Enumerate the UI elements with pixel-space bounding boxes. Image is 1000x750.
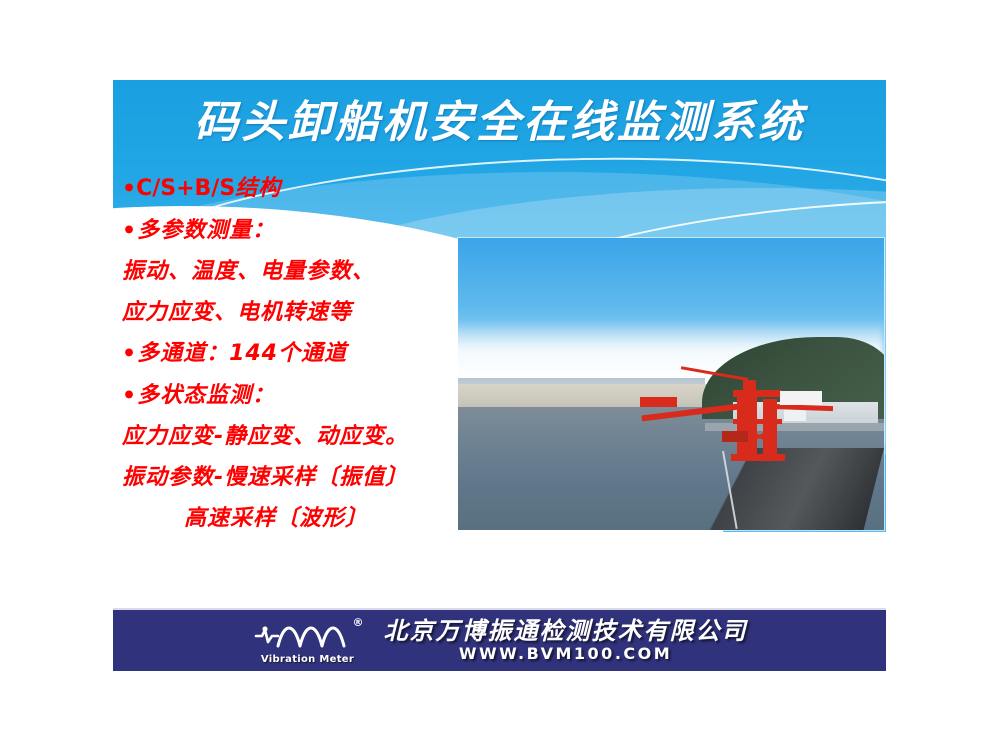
footer-content: ® Vibration Meter 北京万博振通检测技术有限公司 WWW.BVM… xyxy=(113,610,886,671)
crane-boom-tip xyxy=(640,397,676,407)
company-info: 北京万博振通检测技术有限公司 WWW.BVM100.COM xyxy=(384,618,748,663)
list-item-label: 振动、温度、电量参数、 xyxy=(122,259,375,284)
list-item-label: 多参数测量： xyxy=(137,218,275,243)
vibration-wave-icon xyxy=(254,620,364,650)
list-item-multi-state: •多状态监测： xyxy=(122,375,462,417)
list-item-strain-detail: 应力应变-静应变、动应变。 xyxy=(122,416,462,457)
crane-mid-beam xyxy=(733,419,782,424)
company-logo: ® Vibration Meter xyxy=(252,616,370,666)
list-item-label: 应力应变、电机转速等 xyxy=(122,300,352,325)
bullet-marker: • xyxy=(122,383,137,408)
list-item-zh-text: 结构 xyxy=(235,176,281,201)
footer-banner: ® Vibration Meter 北京万博振通检测技术有限公司 WWW.BVM… xyxy=(113,608,886,671)
list-item-label: 高速采样〔波形〕 xyxy=(184,506,368,531)
bullet-marker: • xyxy=(122,342,137,367)
crane-cab xyxy=(743,380,756,392)
list-item-multi-channel: •多通道：144个通道 xyxy=(122,333,462,375)
list-item-vibration-detail-2: 高速采样〔波形〕 xyxy=(122,498,462,539)
logo-caption: Vibration Meter xyxy=(252,654,364,665)
bullet-marker: • xyxy=(122,177,136,202)
list-item-cs-bs: •C/S+B/S结构 xyxy=(122,168,462,210)
crane-machine-house xyxy=(722,431,748,443)
crane-sign-board xyxy=(780,391,823,404)
bullet-list: •C/S+B/S结构 •多参数测量： 振动、温度、电量参数、 应力应变、电机转速… xyxy=(122,168,462,539)
page-title: 码头卸船机安全在线监测系统 xyxy=(113,97,886,149)
presentation-slide: 码头卸船机安全在线监测系统 •C/S+B/S结构 •多参数测量： 振动、温度、电… xyxy=(0,0,1000,750)
company-name: 北京万博振通检测技术有限公司 xyxy=(384,618,748,644)
ship-unloader-photo xyxy=(458,238,884,530)
list-item-vibration-detail: 振动参数-慢速采样〔振值〕 xyxy=(122,457,462,498)
list-item-latin-text: C/S+B/S xyxy=(136,176,235,201)
list-item-label: 振动参数-慢速采样〔振值〕 xyxy=(122,465,408,490)
list-item-label: 多通道：144个通道 xyxy=(137,341,347,366)
registered-trademark-icon: ® xyxy=(353,616,364,629)
list-item-param-list-1: 振动、温度、电量参数、 xyxy=(122,251,462,292)
bullet-marker: • xyxy=(122,218,137,243)
list-item-multi-param: •多参数测量： xyxy=(122,210,462,252)
company-website[interactable]: WWW.BVM100.COM xyxy=(459,645,672,663)
list-item-label: 多状态监测： xyxy=(137,383,275,408)
crane-base-beam xyxy=(731,454,784,461)
list-item-label: 应力应变-静应变、动应变。 xyxy=(122,424,408,449)
list-item-param-list-2: 应力应变、电机转速等 xyxy=(122,292,462,333)
